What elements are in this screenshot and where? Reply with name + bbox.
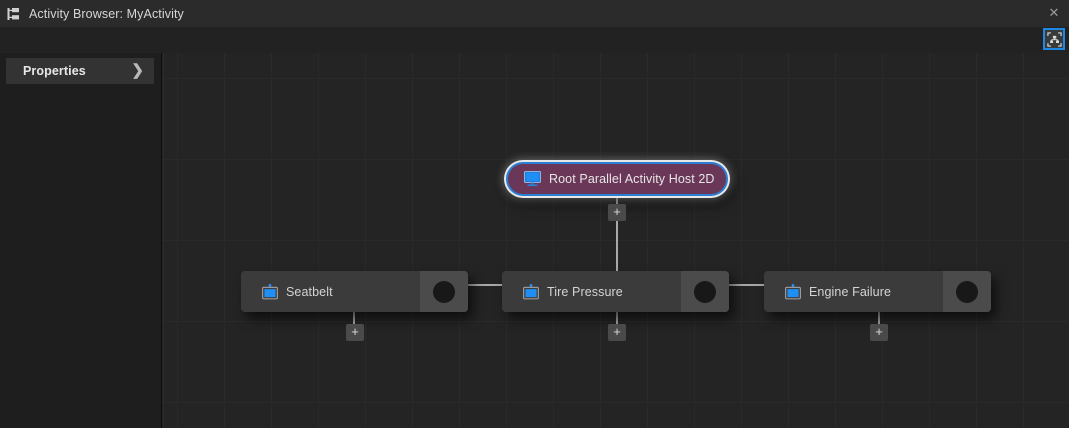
node-slot[interactable] <box>420 271 468 312</box>
add-child-button-tire-pressure[interactable]: + <box>608 324 626 341</box>
graph-node-seatbelt[interactable]: Seatbelt <box>241 271 468 312</box>
graph-node-tire-pressure[interactable]: Tire Pressure <box>502 271 729 312</box>
add-child-button-root[interactable]: + <box>608 204 626 221</box>
graph-node-engine-failure[interactable]: Engine Failure <box>764 271 991 312</box>
activity-node-icon <box>785 284 801 300</box>
node-slot-dot-icon <box>694 281 716 303</box>
monitor-icon <box>524 171 541 187</box>
graph-node-label: Seatbelt <box>286 285 333 299</box>
node-slot[interactable] <box>943 271 991 312</box>
graph-node-root[interactable]: Root Parallel Activity Host 2D <box>506 162 728 196</box>
graph-node-label: Engine Failure <box>809 285 891 299</box>
add-child-button-engine-failure[interactable]: + <box>870 324 888 341</box>
activity-browser-window: Activity Browser: MyActivity ✕ <box>0 0 1069 428</box>
hierarchy-icon <box>7 7 23 21</box>
fit-hierarchy-to-view-button[interactable] <box>1043 28 1065 50</box>
properties-section-header[interactable]: Properties ❯ <box>6 58 154 84</box>
graph-node-root-label: Root Parallel Activity Host 2D <box>549 172 715 186</box>
activity-node-icon <box>262 284 278 300</box>
activity-node-icon <box>523 284 539 300</box>
window-titlebar: Activity Browser: MyActivity ✕ <box>0 0 1069 28</box>
node-slot-dot-icon <box>433 281 455 303</box>
node-slot[interactable] <box>681 271 729 312</box>
add-child-button-seatbelt[interactable]: + <box>346 324 364 341</box>
graph-connectors <box>162 53 1069 428</box>
window-title: Activity Browser: MyActivity <box>29 7 184 21</box>
chevron-right-icon[interactable]: ❯ <box>131 62 144 80</box>
activity-graph-canvas[interactable]: Root Parallel Activity Host 2D + Seatbel… <box>162 53 1069 428</box>
frame-hierarchy-icon <box>1047 32 1062 47</box>
node-slot-dot-icon <box>956 281 978 303</box>
properties-panel: Properties ❯ <box>0 53 162 428</box>
graph-node-label: Tire Pressure <box>547 285 623 299</box>
properties-label: Properties <box>23 64 86 78</box>
canvas-toolbar <box>0 27 1069 53</box>
close-icon[interactable]: ✕ <box>1046 5 1062 21</box>
